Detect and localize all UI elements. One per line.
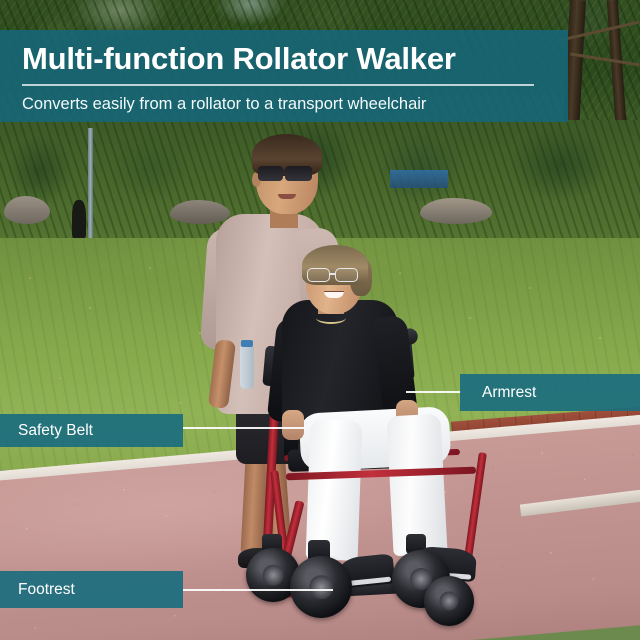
sunglasses-lens <box>285 166 312 181</box>
sunglasses-lens <box>258 166 283 181</box>
distant-blue-structure <box>390 170 448 188</box>
callout-label-safety-belt: Safety Belt <box>18 422 93 440</box>
header-divider <box>22 84 534 86</box>
callout-label-armrest: Armrest <box>482 384 536 402</box>
callout-leader-line-safety-belt <box>183 427 305 429</box>
callout-leader-line-footrest <box>183 589 333 591</box>
wheel-hub <box>263 565 284 586</box>
eyeglasses <box>306 268 362 282</box>
callout-label-footrest: Footrest <box>18 581 75 599</box>
header-banner: Multi-function Rollator Walker Converts … <box>0 30 568 122</box>
necklace <box>316 312 346 324</box>
callout-leader-line-armrest <box>406 391 462 393</box>
rock <box>4 196 50 224</box>
sunglasses <box>258 166 316 182</box>
callout-armrest: Armrest <box>460 374 640 411</box>
rock <box>170 200 230 224</box>
water-bottle <box>240 345 254 389</box>
woman-hand <box>282 410 304 440</box>
callout-safety-belt: Safety Belt <box>0 414 183 447</box>
wheel-hub <box>440 592 459 611</box>
man-mouth <box>278 194 296 199</box>
wheel-hub <box>309 575 333 599</box>
front-wheel <box>290 556 352 618</box>
page-title: Multi-function Rollator Walker <box>22 38 568 80</box>
product-marketing-image: Multi-function Rollator Walker Converts … <box>0 0 640 640</box>
rock <box>420 198 492 224</box>
eyeglasses-lens <box>307 268 330 282</box>
rear-wheel <box>424 576 474 626</box>
eyeglasses-lens <box>335 268 358 282</box>
header-subtitle: Converts easily from a rollator to a tra… <box>22 93 568 115</box>
callout-footrest: Footrest <box>0 571 183 608</box>
water-bottle-cap <box>241 340 253 347</box>
distant-figure <box>72 200 86 238</box>
lamp-post <box>88 128 93 240</box>
